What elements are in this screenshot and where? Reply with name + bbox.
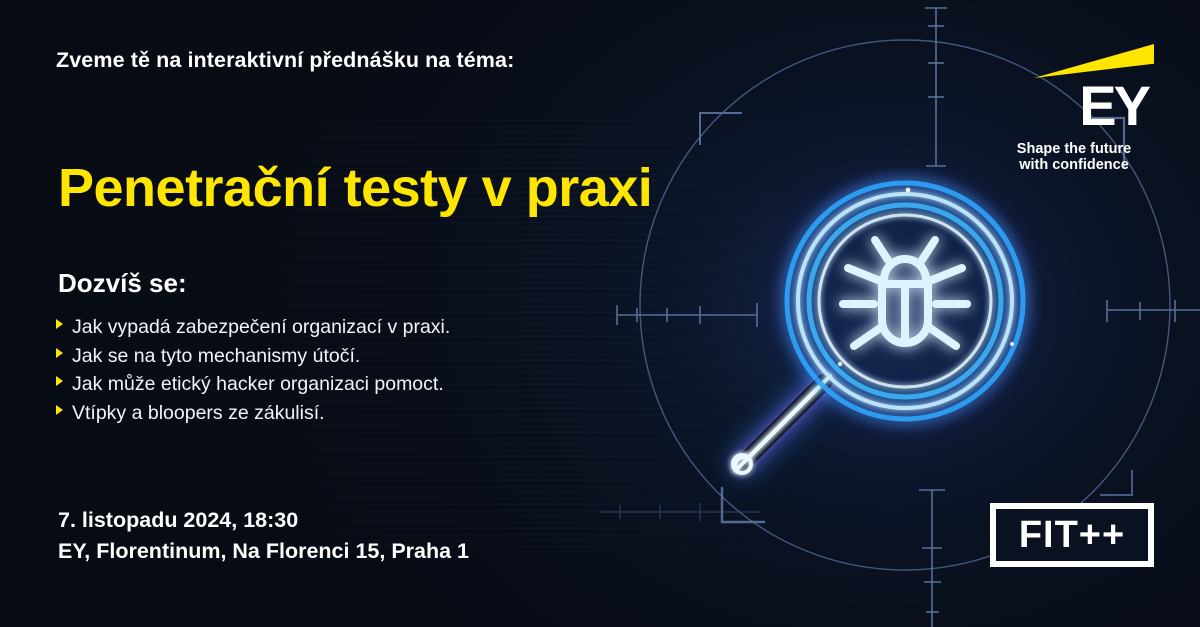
magnifier-artwork [712,168,1042,508]
list-item: Jak vypadá zabezpečení organizací v prax… [56,313,450,342]
list-item: Jak se na tyto mechanismy útočí. [56,342,450,371]
list-item-label: Jak vypadá zabezpečení organizací v prax… [72,313,450,342]
ruler-top [925,8,947,166]
intro-line: Zveme tě na interaktivní přednášku na té… [56,48,514,73]
learn-section-title: Dozvíš se: [58,268,187,299]
corner-bracket-bottom-right [1100,470,1132,495]
ey-tagline: Shape the future with confidence [994,141,1154,173]
list-item: Jak může etický hacker organizaci pomoct… [56,370,450,399]
bullet-arrow-icon [56,319,63,329]
content-column: Zveme tě na interaktivní přednášku na té… [56,0,696,627]
ey-logo: EY Shape the future with confidence [994,44,1154,173]
bullet-arrow-icon [56,376,63,386]
event-datetime: 7. listopadu 2024, 18:30 [58,505,469,536]
fit-logo: FIT++ [990,503,1154,567]
event-venue: EY, Florentinum, Na Florenci 15, Praha 1 [58,536,469,567]
list-item-label: Jak se na tyto mechanismy útočí. [72,342,360,371]
bullet-arrow-icon [56,348,63,358]
magnifier-handle [733,376,830,473]
list-item-label: Vtípky a bloopers ze zákulisí. [72,399,325,428]
ey-beam-icon [1034,44,1154,78]
ruler-right [1107,300,1200,322]
ey-tagline-line2: with confidence [994,157,1154,173]
list-item-label: Jak může etický hacker organizaci pomoct… [72,370,444,399]
ey-tagline-line1: Shape the future [994,141,1154,157]
event-banner: Zveme tě na interaktivní přednášku na té… [0,0,1200,627]
topics-list: Jak vypadá zabezpečení organizací v prax… [56,313,450,427]
list-item: Vtípky a bloopers ze zákulisí. [56,399,450,428]
ruler-bottom [919,490,945,627]
ey-wordmark: EY [994,80,1154,132]
fit-wordmark: FIT++ [1019,514,1125,557]
corner-bracket-top-left [700,113,742,145]
bullet-arrow-icon [56,405,63,415]
page-title: Penetrační testy v praxi [58,161,652,215]
event-details: 7. listopadu 2024, 18:30 EY, Florentinum… [58,505,469,567]
